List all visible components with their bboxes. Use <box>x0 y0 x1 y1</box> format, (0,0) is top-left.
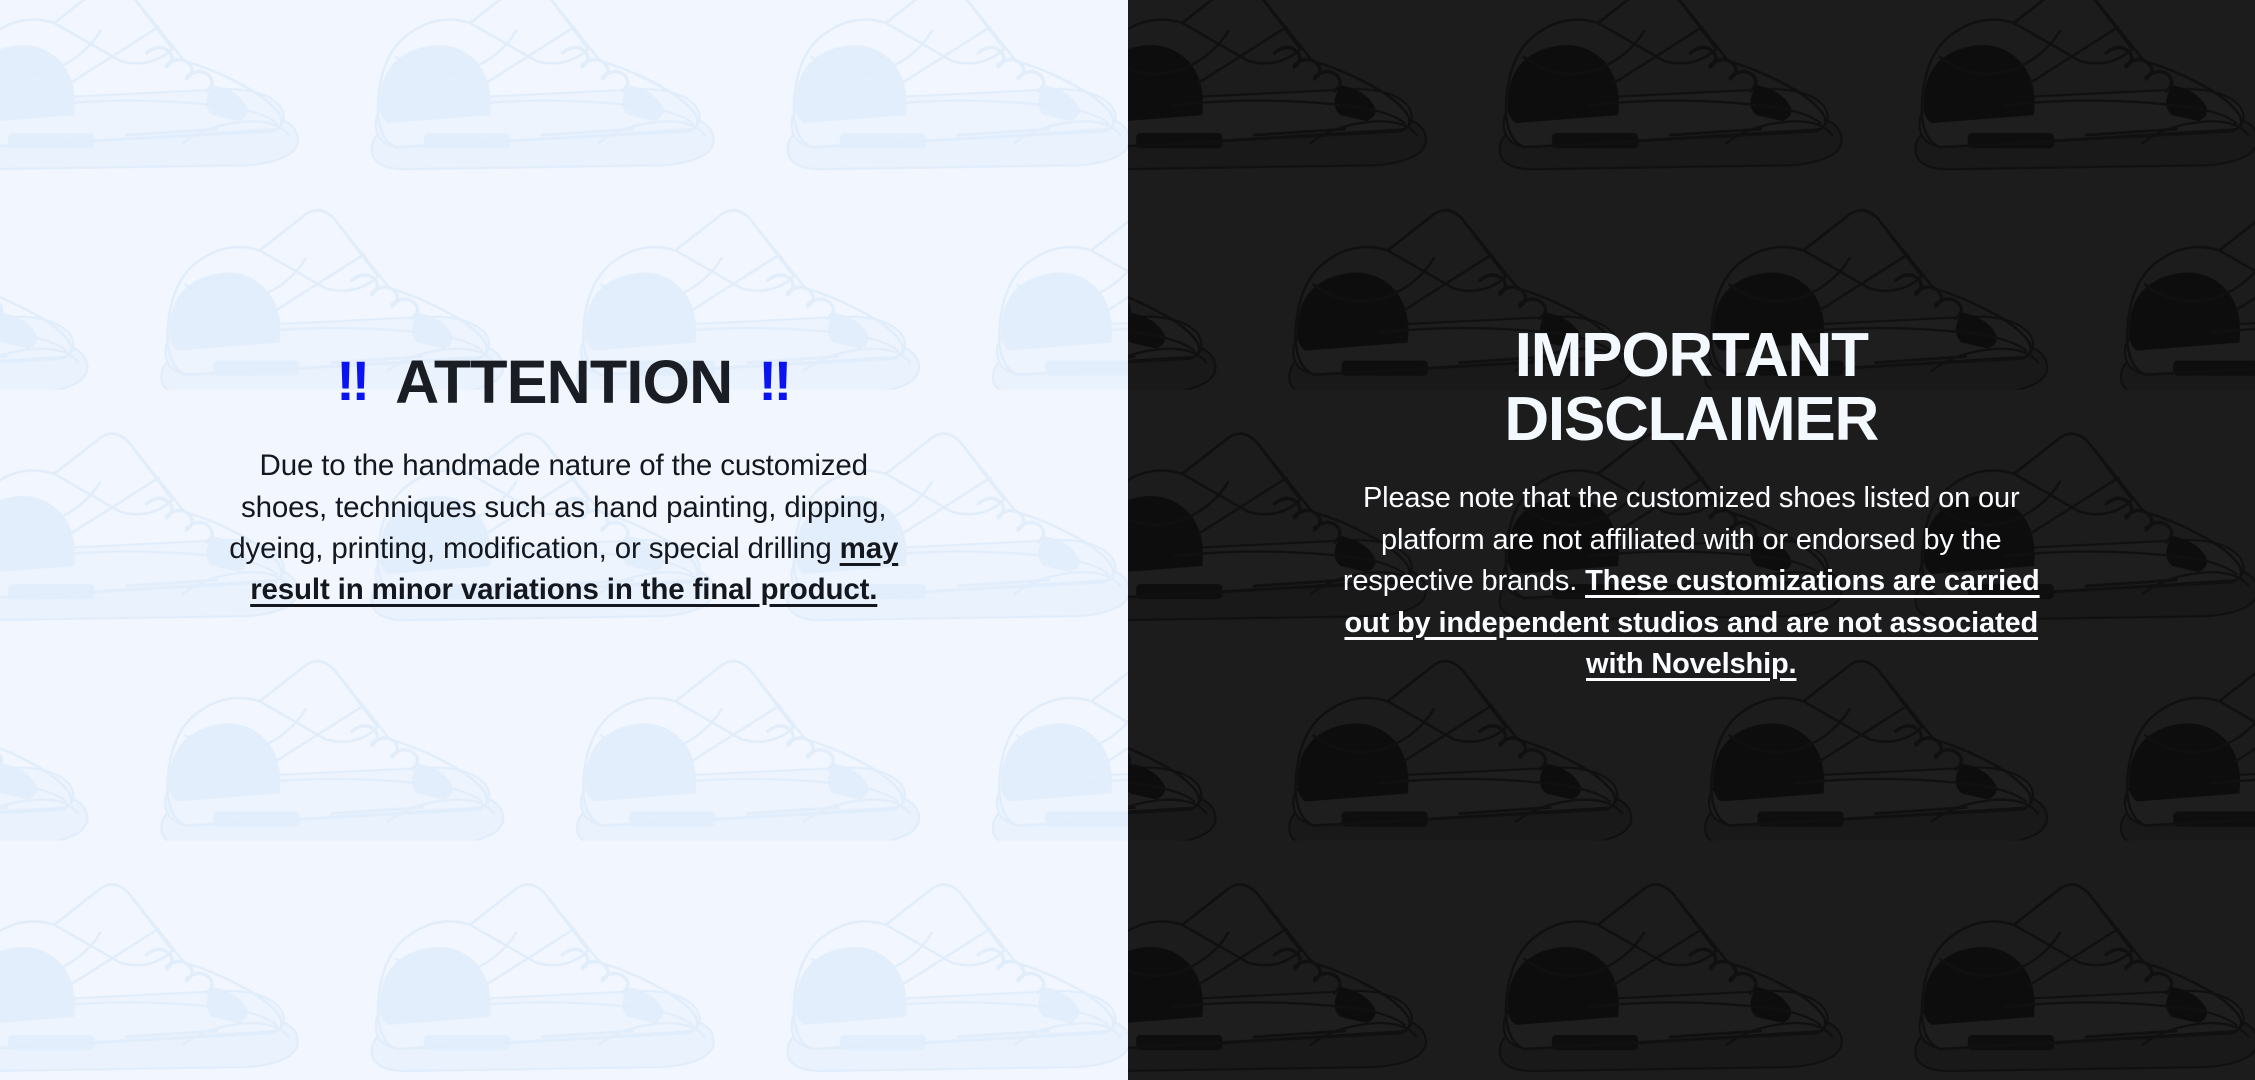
disclaimer-heading: IMPORTANT DISCLAIMER <box>1321 324 2061 452</box>
disclaimer-heading-line1: IMPORTANT <box>1515 321 1868 390</box>
split-banner: ‼ ATTENTION ‼ Due to the handmade nature… <box>0 0 2255 1080</box>
attention-body: Due to the handmade nature of the custom… <box>214 445 914 610</box>
disclaimer-content: IMPORTANT DISCLAIMER Please note that th… <box>1321 324 2061 755</box>
attention-heading-text: ATTENTION <box>395 351 732 414</box>
double-exclamation-icon-left: ‼ <box>336 353 369 409</box>
double-exclamation-icon-right: ‼ <box>758 353 791 409</box>
attention-panel: ‼ ATTENTION ‼ Due to the handmade nature… <box>0 0 1128 1080</box>
attention-heading: ‼ ATTENTION ‼ <box>214 351 914 414</box>
attention-body-normal: Due to the handmade nature of the custom… <box>229 449 886 565</box>
attention-content: ‼ ATTENTION ‼ Due to the handmade nature… <box>214 351 914 728</box>
disclaimer-heading-line2: DISCLAIMER <box>1504 385 1878 454</box>
disclaimer-body: Please note that the customized shoes li… <box>1321 478 2061 685</box>
disclaimer-panel: IMPORTANT DISCLAIMER Please note that th… <box>1128 0 2255 1080</box>
